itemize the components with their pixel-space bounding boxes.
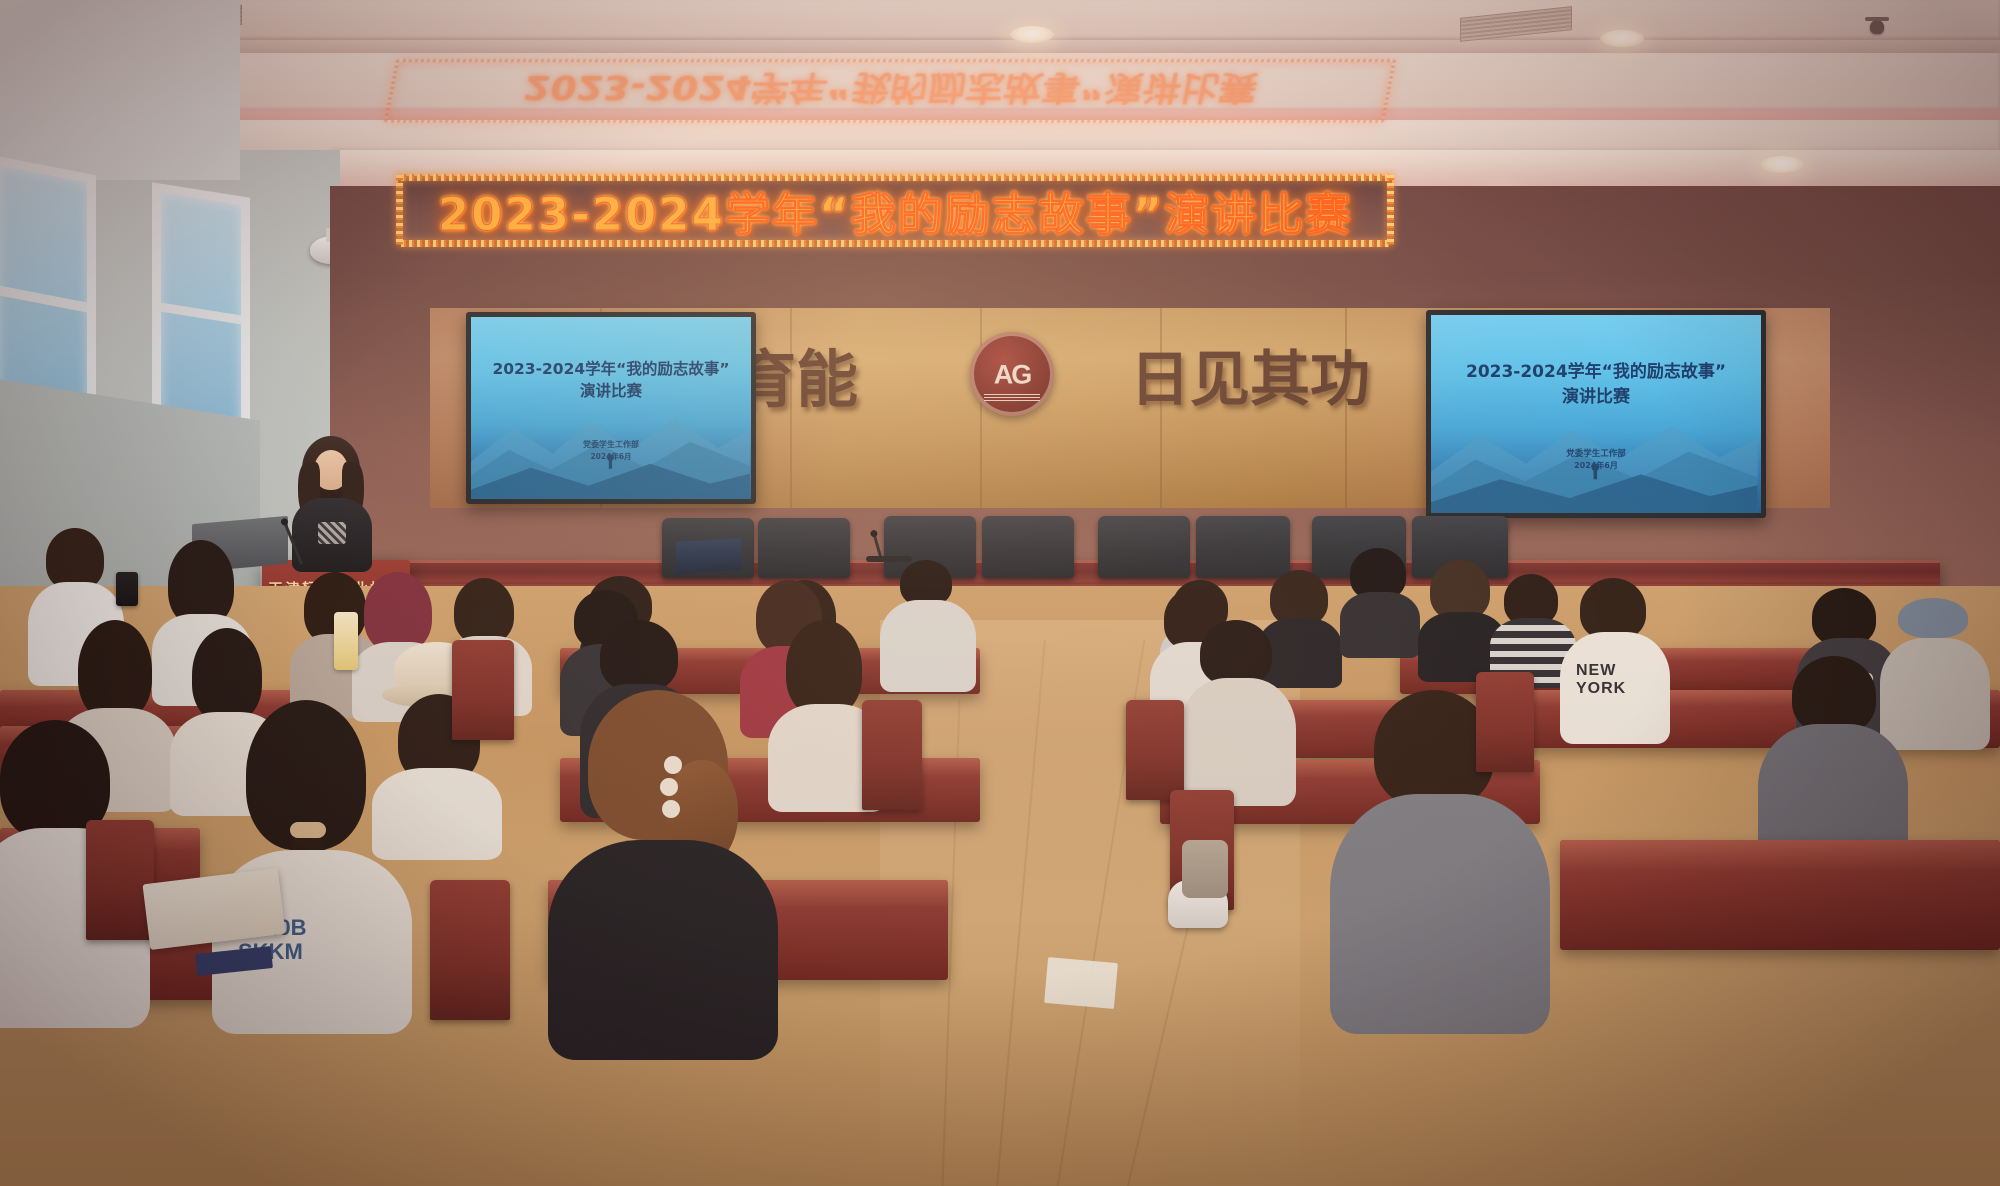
tv-left-date: 2024年6月 bbox=[471, 451, 751, 462]
smartphone-icon bbox=[116, 572, 138, 606]
chair-back-5 bbox=[1126, 700, 1184, 800]
college-emblem: AG bbox=[970, 332, 1054, 416]
window-mullion-1 bbox=[0, 285, 87, 312]
tv-left-title-line1: 2023-2024学年“我的励志故事” bbox=[471, 357, 751, 379]
auditorium-photo: 2023-2024学年“我的励志故事”演讲比赛 2023-2024学年“我的励志… bbox=[0, 0, 2000, 1186]
tv-right-title-line1: 2023-2024学年“我的励志故事” bbox=[1431, 357, 1761, 382]
body bbox=[1180, 678, 1296, 806]
paper-sheet bbox=[1044, 957, 1118, 1009]
hair-clip-3 bbox=[662, 800, 680, 818]
body bbox=[1340, 592, 1420, 658]
body bbox=[548, 840, 778, 1060]
hair bbox=[786, 620, 862, 716]
ceiling-downlight-7 bbox=[1760, 156, 1804, 173]
audience-person-d3-bun bbox=[548, 690, 778, 1050]
window-mullion-2 bbox=[161, 303, 241, 325]
audience-person-b9: NEW YORK bbox=[1560, 578, 1670, 738]
hair bbox=[600, 620, 678, 692]
hair bbox=[454, 578, 514, 644]
hair bbox=[1792, 656, 1876, 734]
hair bbox=[1430, 560, 1490, 620]
hair bbox=[1200, 620, 1272, 686]
audience-person-a6 bbox=[1340, 548, 1420, 652]
cap bbox=[1898, 598, 1968, 638]
hair bbox=[46, 528, 104, 590]
body bbox=[880, 600, 976, 692]
hair-tie bbox=[290, 822, 326, 838]
led-banner: 2023-2024学年“我的励志故事”演讲比赛 bbox=[398, 176, 1392, 244]
audience-person-a3 bbox=[880, 560, 976, 680]
banner-reflection-text: 2023-2024学年“我的励志故事”演讲比赛 bbox=[384, 59, 1396, 122]
tv-right-dept: 党委学生工作部 bbox=[1431, 447, 1761, 459]
desk-top bbox=[1560, 840, 2000, 869]
trouser-leg bbox=[1182, 840, 1228, 898]
wall-calligraphy-right: 日见其功 bbox=[1130, 333, 1440, 415]
ceiling-speaker-2 bbox=[1870, 20, 1884, 34]
tv-left-title-line2: 演讲比赛 bbox=[471, 379, 751, 401]
audience-person-d2-ponytail: EF40BSKKM bbox=[212, 700, 412, 1020]
chair-back-2 bbox=[430, 880, 510, 1020]
audience-desk-row-d2 bbox=[1560, 840, 2000, 950]
banner-title-text: 2023-2024学年“我的励志故事”演讲比赛 bbox=[401, 179, 1389, 241]
ceiling-downlight-3 bbox=[1600, 30, 1644, 47]
stage-chair-2 bbox=[758, 518, 850, 578]
stage-chair-6 bbox=[1196, 516, 1290, 578]
chair-back-3 bbox=[452, 640, 514, 740]
banner-reflection: 2023-2024学年“我的励志故事”演讲比赛 bbox=[384, 59, 1396, 122]
tv-screen-right[interactable]: 2023-2024学年“我的励志故事” 演讲比赛 党委学生工作部 2024年6月 bbox=[1426, 310, 1766, 518]
hair bbox=[78, 620, 152, 720]
left-wall-upper bbox=[0, 0, 240, 180]
shirt-text-new-york: NEW YORK bbox=[1576, 662, 1654, 680]
ceiling-slab-1 bbox=[0, 0, 2000, 40]
ceiling-downlight-2 bbox=[1010, 26, 1054, 43]
chair-back-6 bbox=[1476, 672, 1534, 772]
emblem-mark: AG bbox=[994, 360, 1031, 391]
chair-back-4 bbox=[862, 700, 922, 810]
body bbox=[1330, 794, 1550, 1034]
water-bottle bbox=[334, 612, 358, 670]
hair-clip-1 bbox=[664, 756, 682, 774]
tv-screen-left[interactable]: 2023-2024学年“我的励志故事” 演讲比赛 党委学生工作部 2024年6月 bbox=[466, 312, 756, 504]
stage-chair-5 bbox=[1098, 516, 1190, 578]
hair bbox=[1580, 578, 1646, 640]
chair-back-1 bbox=[86, 820, 154, 940]
presenter bbox=[288, 436, 374, 572]
emblem-stripes bbox=[984, 394, 1040, 403]
ceiling-beam-1 bbox=[0, 40, 2000, 53]
hair bbox=[364, 572, 432, 652]
stage-chair-4 bbox=[982, 516, 1074, 578]
tv-right-date: 2024年6月 bbox=[1431, 460, 1761, 471]
tv-left-dept: 党委学生工作部 bbox=[471, 439, 751, 450]
tv-right-title-line2: 演讲比赛 bbox=[1431, 382, 1761, 407]
presenter-shirt-pattern bbox=[318, 522, 346, 544]
audience-person-c6 bbox=[1180, 620, 1296, 802]
laptop-on-desk bbox=[676, 538, 742, 573]
hair-clip-2 bbox=[660, 778, 678, 796]
